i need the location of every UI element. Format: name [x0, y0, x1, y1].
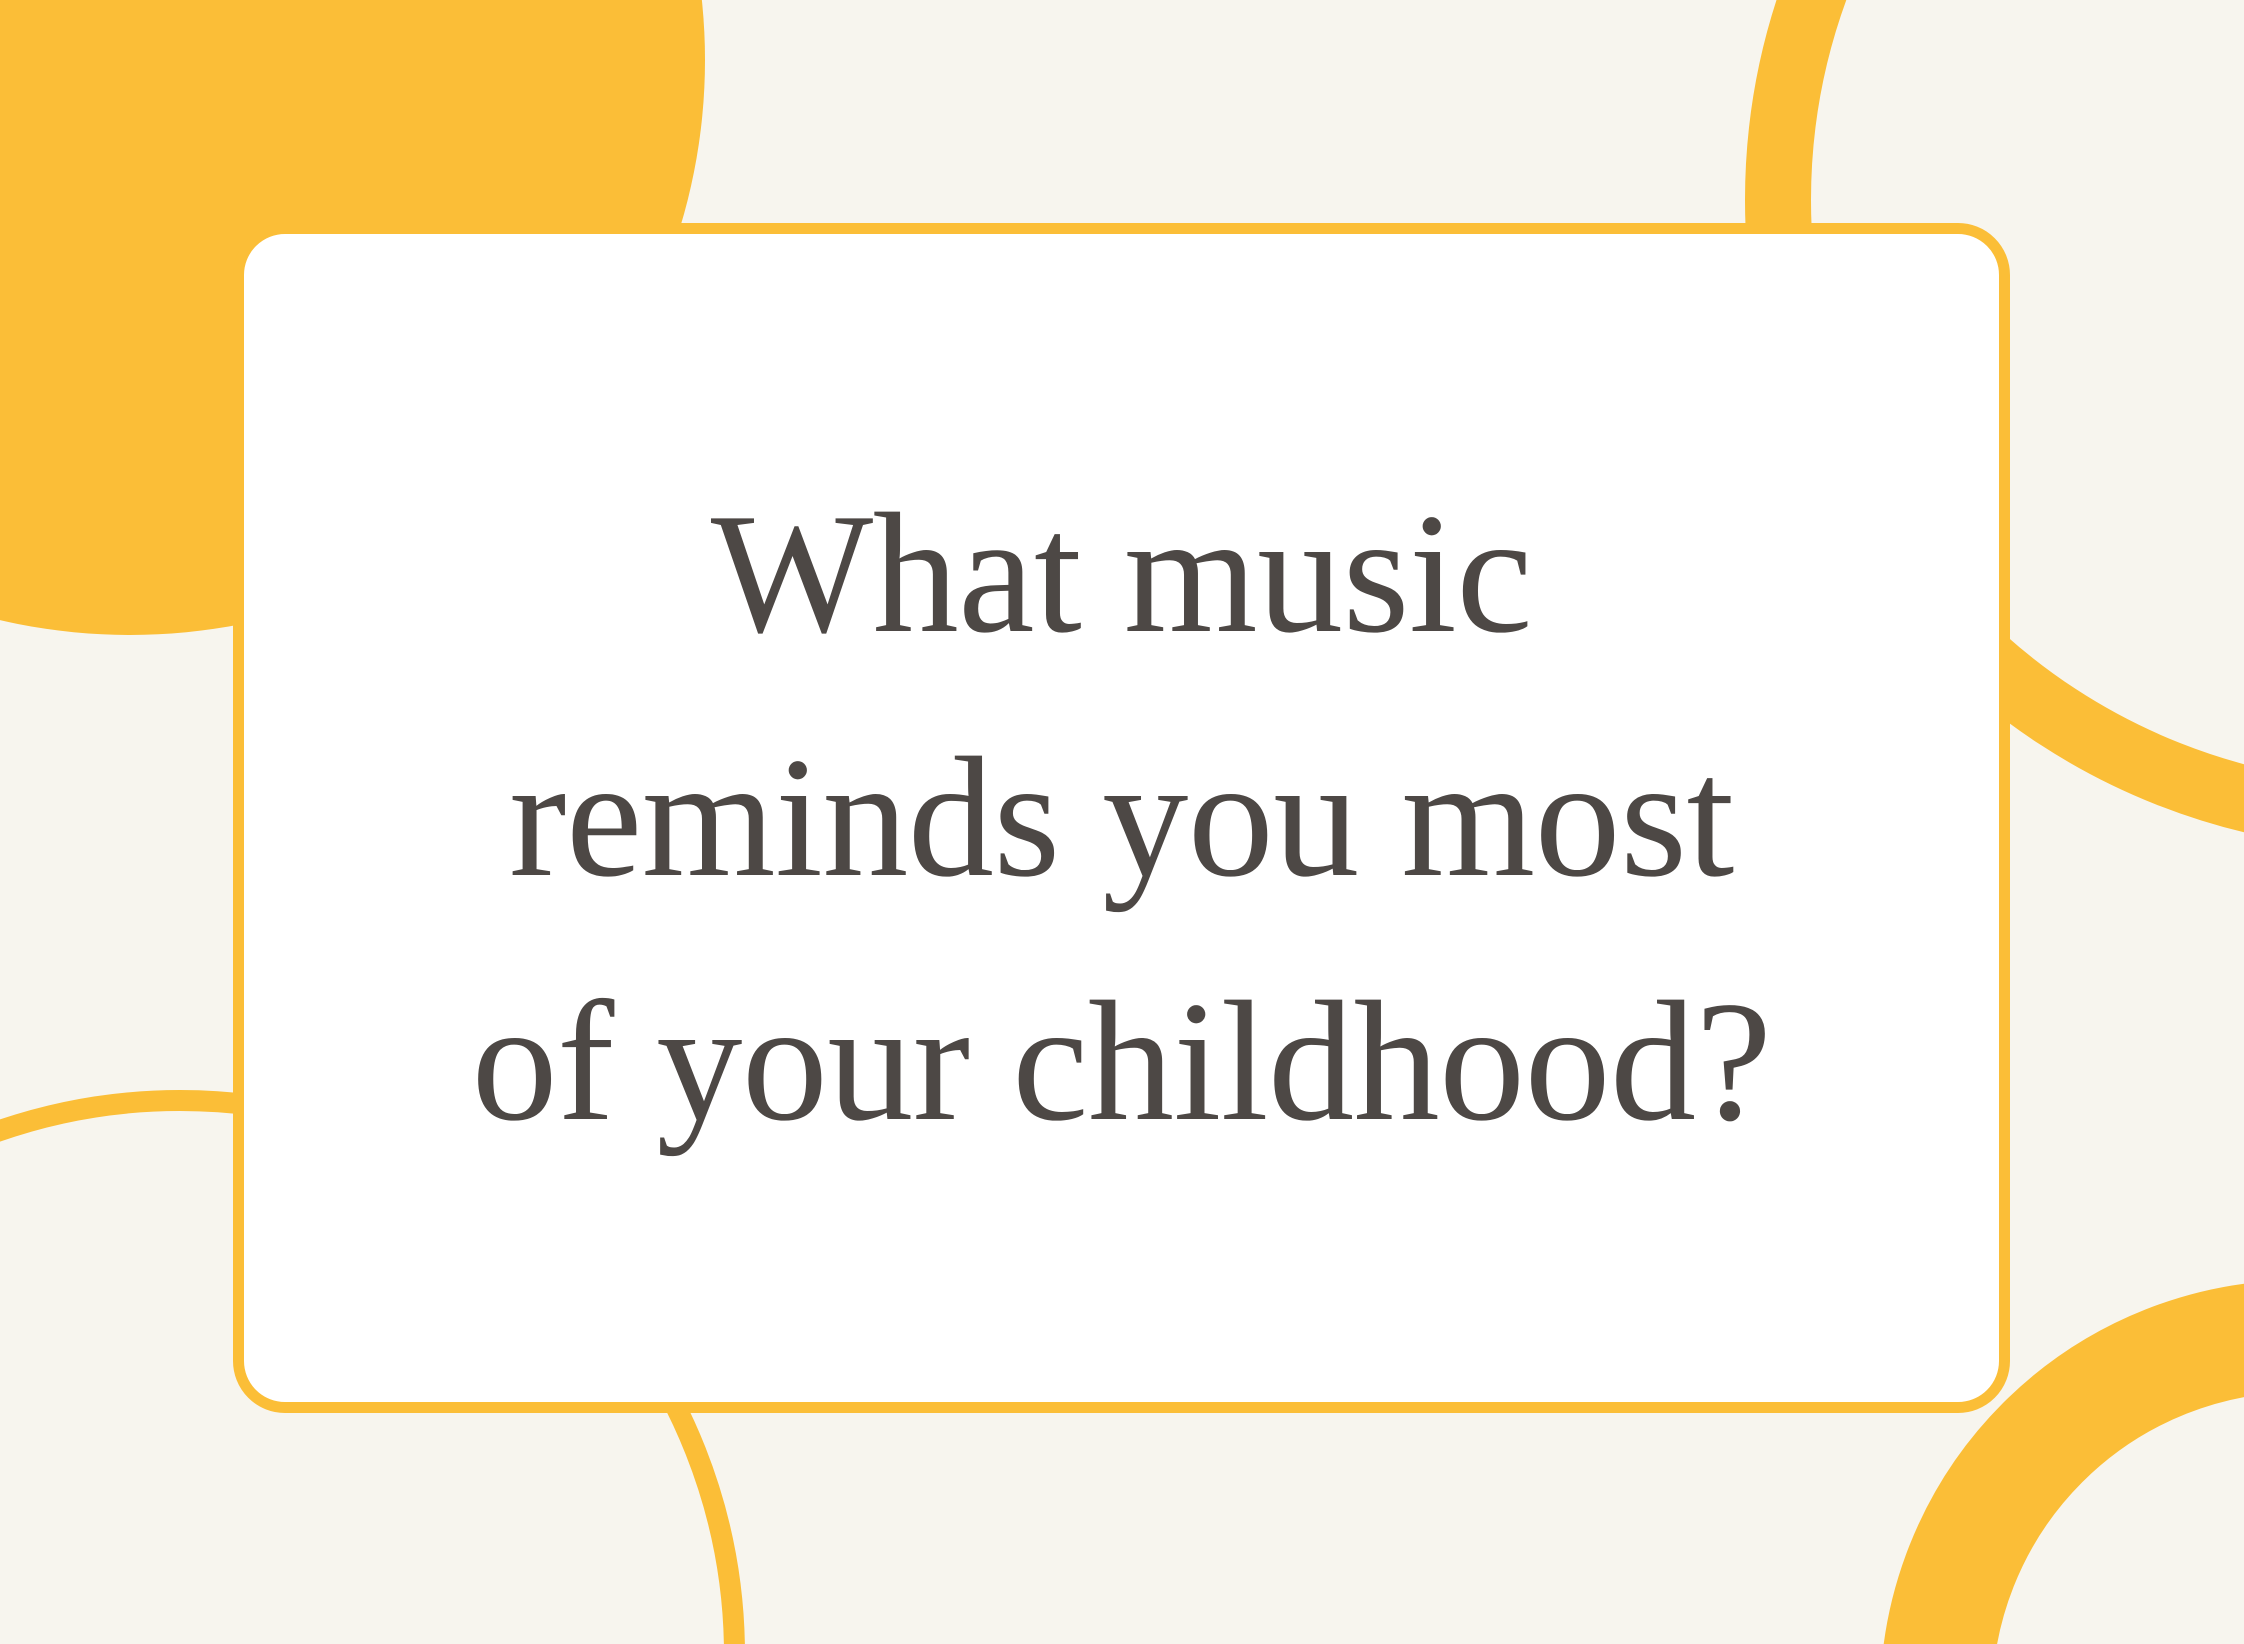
question-text: What music reminds you most of your chil… — [354, 452, 1889, 1185]
slide-canvas: What music reminds you most of your chil… — [0, 0, 2244, 1644]
question-card-body: What music reminds you most of your chil… — [244, 452, 1999, 1185]
question-card: What music reminds you most of your chil… — [233, 223, 2010, 1413]
